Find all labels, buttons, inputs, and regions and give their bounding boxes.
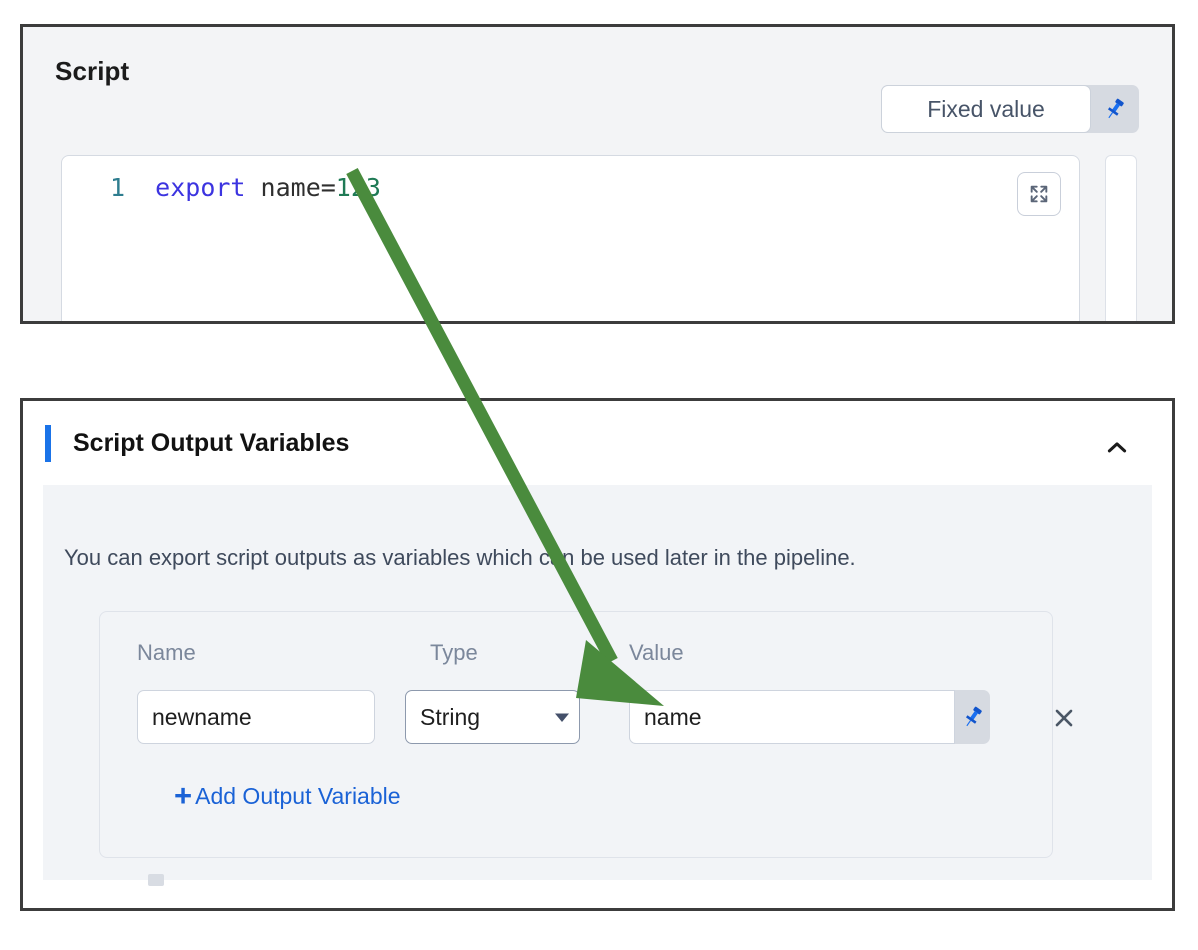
chevron-up-icon[interactable] — [1100, 431, 1134, 465]
column-header-type: Type — [430, 640, 478, 666]
fixed-value-button[interactable]: Fixed value — [881, 85, 1091, 133]
close-x-icon[interactable] — [1046, 700, 1082, 736]
script-output-variables-panel: Script Output Variables You can export s… — [20, 398, 1175, 911]
expand-fullscreen-icon[interactable] — [1017, 172, 1061, 216]
variable-name-input[interactable] — [137, 690, 375, 744]
table-row: String — [100, 690, 1052, 746]
script-panel-header: Script Fixed value — [23, 27, 1172, 125]
script-panel-title: Script — [55, 56, 129, 87]
variable-value-input[interactable] — [629, 690, 955, 744]
variable-type-select[interactable]: String — [405, 690, 580, 744]
variable-type-value: String — [406, 704, 545, 731]
output-variables-title: Script Output Variables — [73, 429, 349, 458]
variable-value-group — [629, 690, 990, 744]
column-header-value: Value — [629, 640, 684, 666]
code-keyword: export — [155, 173, 245, 202]
script-editor-scroll-gutter[interactable] — [1105, 155, 1137, 324]
output-variables-table: Name Type Value String — [99, 611, 1053, 858]
code-assignment: name= — [245, 173, 335, 202]
column-header-name: Name — [137, 640, 196, 666]
pushpin-icon[interactable] — [955, 690, 990, 744]
chevron-down-icon — [545, 712, 579, 723]
add-output-variable-button[interactable]: + Add Output Variable — [174, 782, 401, 811]
output-variables-description: You can export script outputs as variabl… — [64, 545, 856, 571]
plus-icon: + — [174, 780, 192, 811]
line-number: 1 — [62, 173, 125, 202]
code-number: 123 — [336, 173, 381, 202]
value-mode-group: Fixed value — [881, 85, 1139, 133]
screenshot-stage: Script Fixed value 1 export name= — [0, 0, 1198, 950]
pushpin-icon[interactable] — [1091, 85, 1139, 133]
output-variables-header: Script Output Variables — [23, 401, 1172, 485]
script-panel: Script Fixed value 1 export name= — [20, 24, 1175, 324]
section-accent-bar — [45, 425, 51, 462]
code-indent — [125, 173, 155, 202]
panel-footer-stub — [148, 874, 164, 886]
script-editor-line-1: 1 export name=123 — [62, 173, 381, 203]
output-variables-body: You can export script outputs as variabl… — [43, 485, 1152, 880]
script-editor[interactable]: 1 export name=123 — [61, 155, 1080, 324]
add-output-variable-label: Add Output Variable — [195, 783, 400, 810]
